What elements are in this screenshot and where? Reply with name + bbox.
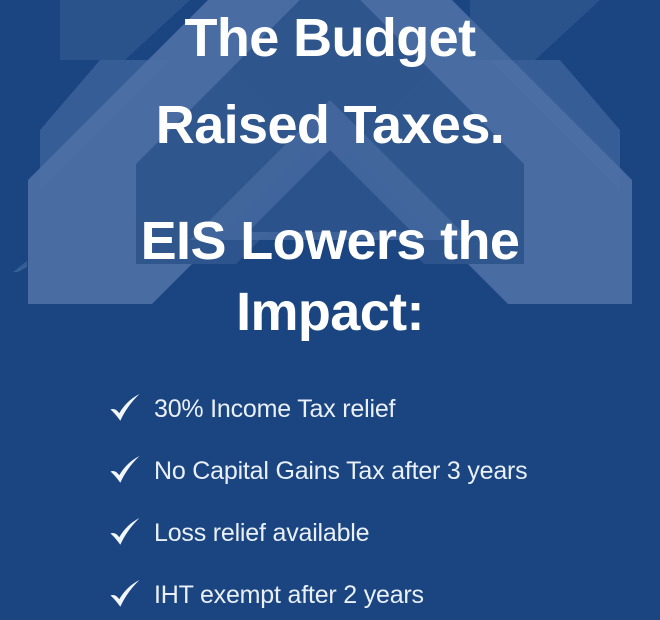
headline-block: The Budget Raised Taxes. EIS Lowers the … bbox=[0, 0, 660, 341]
benefit-label: IHT exempt after 2 years bbox=[154, 581, 424, 610]
benefit-label: No Capital Gains Tax after 3 years bbox=[154, 457, 527, 486]
check-icon bbox=[108, 579, 142, 611]
headline-line-3: EIS Lowers the bbox=[0, 153, 660, 270]
benefits-list: 30% Income Tax relief No Capital Gains T… bbox=[0, 378, 660, 620]
list-item: 30% Income Tax relief bbox=[0, 378, 660, 440]
headline-line-2: Raised Taxes. bbox=[0, 67, 660, 154]
headline-line-1: The Budget bbox=[0, 6, 660, 67]
list-item: Loss relief available bbox=[0, 502, 660, 564]
list-item: IHT exempt after 2 years bbox=[0, 564, 660, 620]
poster-content: The Budget Raised Taxes. EIS Lowers the … bbox=[0, 0, 660, 620]
check-icon bbox=[108, 517, 142, 549]
benefit-label: Loss relief available bbox=[154, 519, 369, 548]
benefit-label: 30% Income Tax relief bbox=[154, 395, 395, 424]
list-item: No Capital Gains Tax after 3 years bbox=[0, 440, 660, 502]
headline-line-4: Impact: bbox=[0, 270, 660, 341]
check-icon bbox=[108, 455, 142, 487]
promo-poster: The Budget Raised Taxes. EIS Lowers the … bbox=[0, 0, 660, 620]
check-icon bbox=[108, 393, 142, 425]
